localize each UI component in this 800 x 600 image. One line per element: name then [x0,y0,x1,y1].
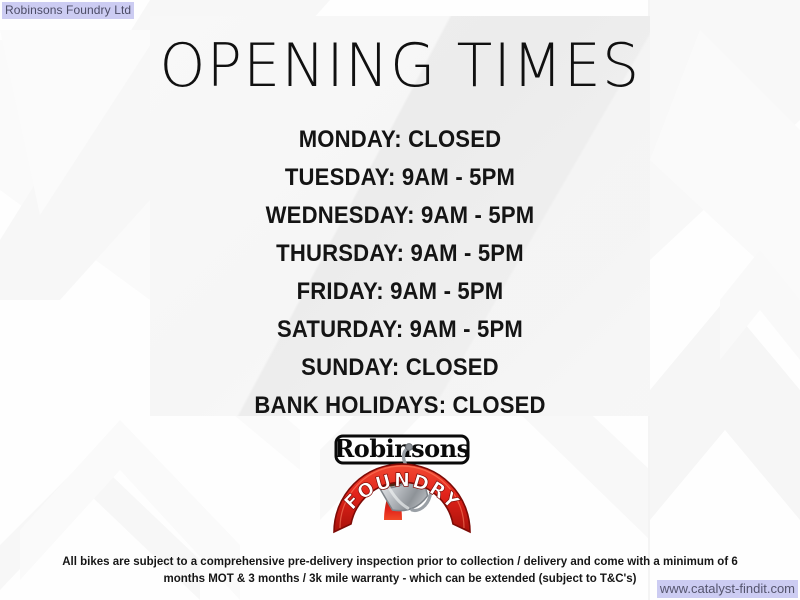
poster-canvas: Robinsons Foundry Ltd OPENING TIMES MOND… [0,0,800,600]
hours-row: SUNDAY: CLOSED [170,349,630,387]
opening-times-panel: OPENING TIMES MONDAY: CLOSED TUESDAY: 9A… [150,16,650,416]
hours-row: THURSDAY: 9AM - 5PM [170,235,630,273]
hours-row: FRIDAY: 9AM - 5PM [170,273,630,311]
page-title-label: Robinsons Foundry Ltd [2,2,134,19]
ladle-pivot [406,444,413,451]
hours-row: TUESDAY: 9AM - 5PM [170,159,630,197]
disclaimer-line-1: All bikes are subject to a comprehensive… [62,556,738,568]
robinsons-foundry-logo: Robinsons [322,432,482,550]
hours-row: SATURDAY: 9AM - 5PM [170,311,630,349]
page-title: OPENING TIMES [158,34,643,98]
svg-text:Robinsons: Robinsons [334,434,469,463]
hours-row: BANK HOLIDAYS: CLOSED [170,387,630,425]
hours-row: MONDAY: CLOSED [170,121,630,159]
hours-row: WEDNESDAY: 9AM - 5PM [170,197,630,235]
site-watermark: www.catalyst-findit.com [657,580,798,598]
opening-hours-list: MONDAY: CLOSED TUESDAY: 9AM - 5PM WEDNES… [150,121,650,425]
robinsons-wordmark: Robinsons [334,434,469,463]
